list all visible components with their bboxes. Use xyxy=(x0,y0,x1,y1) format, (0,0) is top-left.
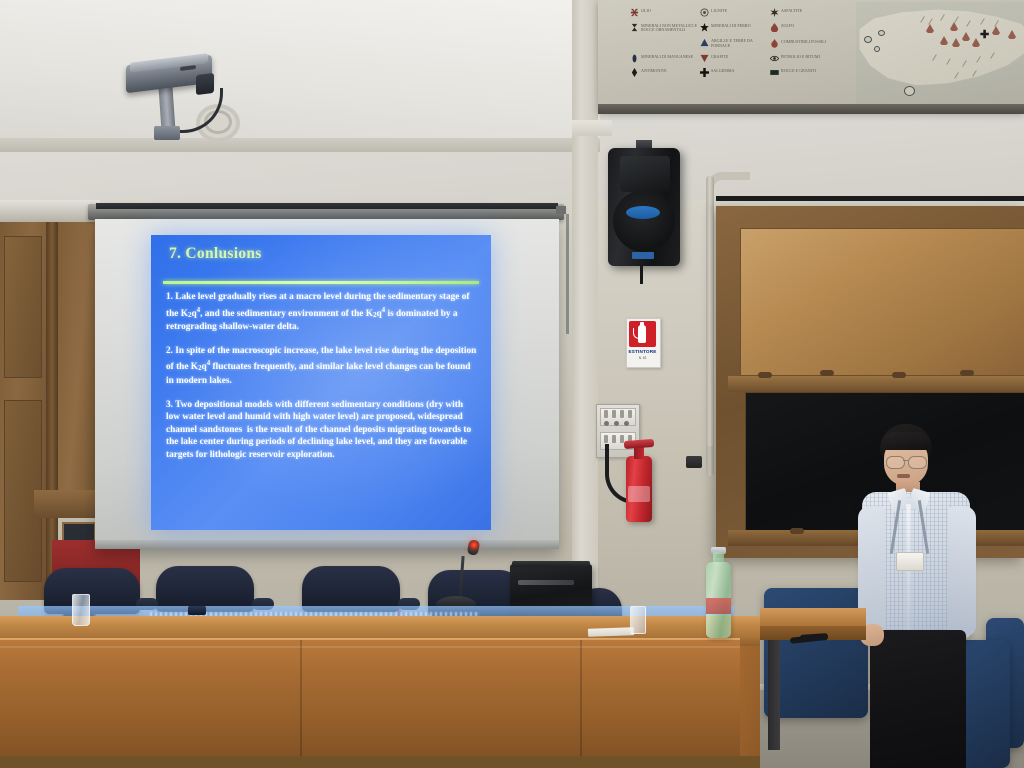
breaker-switch[interactable] xyxy=(620,410,624,418)
slide-paragraph-3: 3. Two depositional models with differen… xyxy=(166,399,478,462)
av-amplifier-vent xyxy=(518,580,574,585)
diamond-icon xyxy=(630,68,639,77)
star-icon xyxy=(700,23,709,32)
breaker-knob[interactable] xyxy=(604,421,609,426)
board-knob xyxy=(960,370,974,376)
presenter-right-arm xyxy=(948,506,976,636)
pillar-cap xyxy=(572,120,612,136)
legend-label: ASFALTITE xyxy=(781,8,802,14)
screen-pull-cord xyxy=(566,214,569,334)
small-island xyxy=(904,86,915,96)
droplet-icon xyxy=(770,23,779,32)
flame-icon xyxy=(770,39,779,48)
triangle-down-icon xyxy=(700,54,709,63)
legend-label: OLIO xyxy=(641,8,651,14)
blackboard-middle-rail xyxy=(728,376,1024,392)
blank-icon xyxy=(630,39,639,48)
lozenge-icon xyxy=(630,54,639,63)
name-badge xyxy=(896,552,924,571)
table-front-panel xyxy=(0,640,740,768)
glasses-left-lens-icon xyxy=(886,456,905,469)
presenter-trousers xyxy=(870,630,966,768)
side-desk-leg xyxy=(768,640,780,750)
breaker-knob[interactable] xyxy=(614,421,619,426)
overhead-cable xyxy=(716,196,1024,201)
legend-label: ZOLFO xyxy=(781,23,794,29)
legend-label: MINERALI DI MANGANESE xyxy=(641,54,693,60)
sign-label: ESTINTORE xyxy=(626,349,659,354)
door-crossbar xyxy=(34,490,100,518)
door-panel-inset-upper xyxy=(4,236,42,378)
legend-label: MINERALI NON METALLICI E ROCCE ORNAMENTA… xyxy=(641,23,700,33)
rect-icon xyxy=(770,68,779,77)
glasses-right-lens-icon xyxy=(908,456,927,469)
maltese-cross-icon xyxy=(630,8,639,17)
board-knob xyxy=(790,528,804,534)
table-grain-line xyxy=(0,646,740,648)
circle-dot-icon xyxy=(700,8,709,17)
hourglass-icon xyxy=(630,23,639,32)
lecture-room-photo: 7. Conlusions 1. Lake level gradually ri… xyxy=(0,0,1024,768)
legend-label: ARGILLE E TERRE DA FORNACE xyxy=(711,38,770,48)
map-legend: OLIO LIGNITE ASFALTITE MINERALI NON META… xyxy=(630,8,840,83)
speaker-brand-logo xyxy=(626,206,660,219)
breaker-switch[interactable] xyxy=(612,435,616,443)
table-seam xyxy=(580,640,582,768)
av-amplifier-top xyxy=(512,561,590,567)
presentation-slide: 7. Conlusions 1. Lake level gradually ri… xyxy=(151,235,491,530)
legend-row: ANTIMONITE SALGEMMA ROCCE E GRANITI xyxy=(630,68,840,77)
speaker-woofer xyxy=(613,190,675,252)
side-desk-top xyxy=(760,608,866,628)
wall-socket[interactable] xyxy=(686,456,702,468)
sicily-mineral-map-poster: OLIO LIGNITE ASFALTITE MINERALI NON META… xyxy=(598,0,1024,112)
legend-label: SALGEMMA xyxy=(711,68,734,74)
legend-row: MINERALI DI MANGANESE GRAFITE PETROLIO E… xyxy=(630,54,840,63)
speaker-horn xyxy=(620,156,670,192)
extinguisher-label xyxy=(628,486,650,502)
projector-mount-plate xyxy=(154,126,180,140)
plus-icon xyxy=(700,68,709,77)
presenter-mouth xyxy=(897,474,910,478)
paper-sheets[interactable] xyxy=(588,627,634,637)
sign-sublabel: N. 53 xyxy=(626,356,659,360)
legend-label: GRAFITE xyxy=(711,54,728,60)
ceiling xyxy=(0,0,600,150)
legend-label: ANTIMONITE xyxy=(641,68,667,74)
table-seam xyxy=(300,640,302,768)
slide-title-rule xyxy=(163,281,479,284)
presenter-fringe xyxy=(881,432,931,450)
legend-label: PETROLIO E BITUMI xyxy=(781,54,820,60)
presenter xyxy=(856,424,988,768)
legend-label: LIGNITE xyxy=(711,8,727,14)
legend-row: OLIO LIGNITE ASFALTITE xyxy=(630,8,840,17)
screen-bottom-bar xyxy=(95,540,559,549)
breaker-switch[interactable] xyxy=(628,410,632,418)
bottle-label xyxy=(706,598,731,614)
eye-icon xyxy=(770,54,779,63)
board-knob xyxy=(758,372,772,378)
slide-body: 1. Lake level gradually rises at a macro… xyxy=(166,291,478,473)
legend-row: MINERALI NON METALLICI E ROCCE ORNAMENTA… xyxy=(630,23,840,33)
legend-label: ROCCE E GRANITI xyxy=(781,68,816,74)
drinking-glass[interactable] xyxy=(630,606,646,634)
breaker-switch[interactable] xyxy=(612,410,616,418)
extinguisher-icon-hose xyxy=(633,328,640,339)
wall-pillar xyxy=(572,0,598,640)
blackboard-upper-panel xyxy=(740,228,1024,376)
screen-roller-shadow xyxy=(96,203,558,209)
small-island xyxy=(864,36,872,43)
board-knob xyxy=(892,372,906,378)
slide-paragraph-2: 2. In spite of the macroscopic increase,… xyxy=(166,345,478,388)
legend-label: MINERALI DI FERRO xyxy=(711,23,751,29)
board-knob xyxy=(820,370,834,376)
ceiling-edge xyxy=(0,138,600,152)
drinking-glass[interactable] xyxy=(72,594,90,626)
mobile-phone[interactable] xyxy=(188,606,206,615)
slide-title: 7. Conlusions xyxy=(169,245,262,263)
door-top-trim xyxy=(0,200,100,222)
triangle-up-icon xyxy=(700,38,709,47)
breaker-switch[interactable] xyxy=(604,410,608,418)
vertical-pipe xyxy=(706,206,713,446)
small-island xyxy=(874,46,880,52)
projector-lens xyxy=(196,73,214,95)
sicily-island-map: ✚ xyxy=(856,2,1024,106)
small-island xyxy=(878,30,885,36)
speaker-badge xyxy=(632,252,654,259)
table-base-shadow xyxy=(0,756,760,768)
door-right-panel xyxy=(58,222,100,512)
legend-row: ARGILLE E TERRE DA FORNACE COMBUSTIBILI … xyxy=(630,38,840,48)
microphone-led-indicator[interactable] xyxy=(470,541,478,549)
breaker-knob[interactable] xyxy=(624,421,629,426)
poster-bottom-edge xyxy=(598,104,1024,114)
screen-hook xyxy=(556,206,566,214)
speaker-cable xyxy=(640,266,643,284)
slide-paragraph-1: 1. Lake level gradually rises at a macro… xyxy=(166,291,478,334)
glasses-bridge-icon xyxy=(903,460,908,461)
legend-label: COMBUSTIBILI FOSSILI xyxy=(781,39,826,45)
extinguisher-icon-top xyxy=(640,322,644,326)
extinguisher-neck xyxy=(634,447,644,459)
breaker-switch[interactable] xyxy=(604,435,608,443)
plus-icon: ✚ xyxy=(980,30,989,41)
starburst-icon xyxy=(770,8,779,17)
